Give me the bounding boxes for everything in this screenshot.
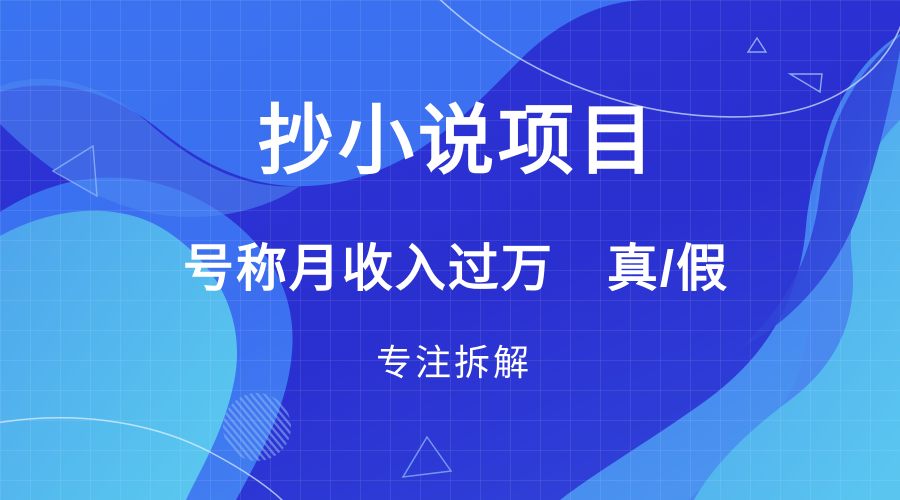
- poster-canvas: 抄小说项目 号称月收入过万 真/假 专注拆解: [0, 0, 900, 500]
- poster-background-art: [0, 0, 900, 500]
